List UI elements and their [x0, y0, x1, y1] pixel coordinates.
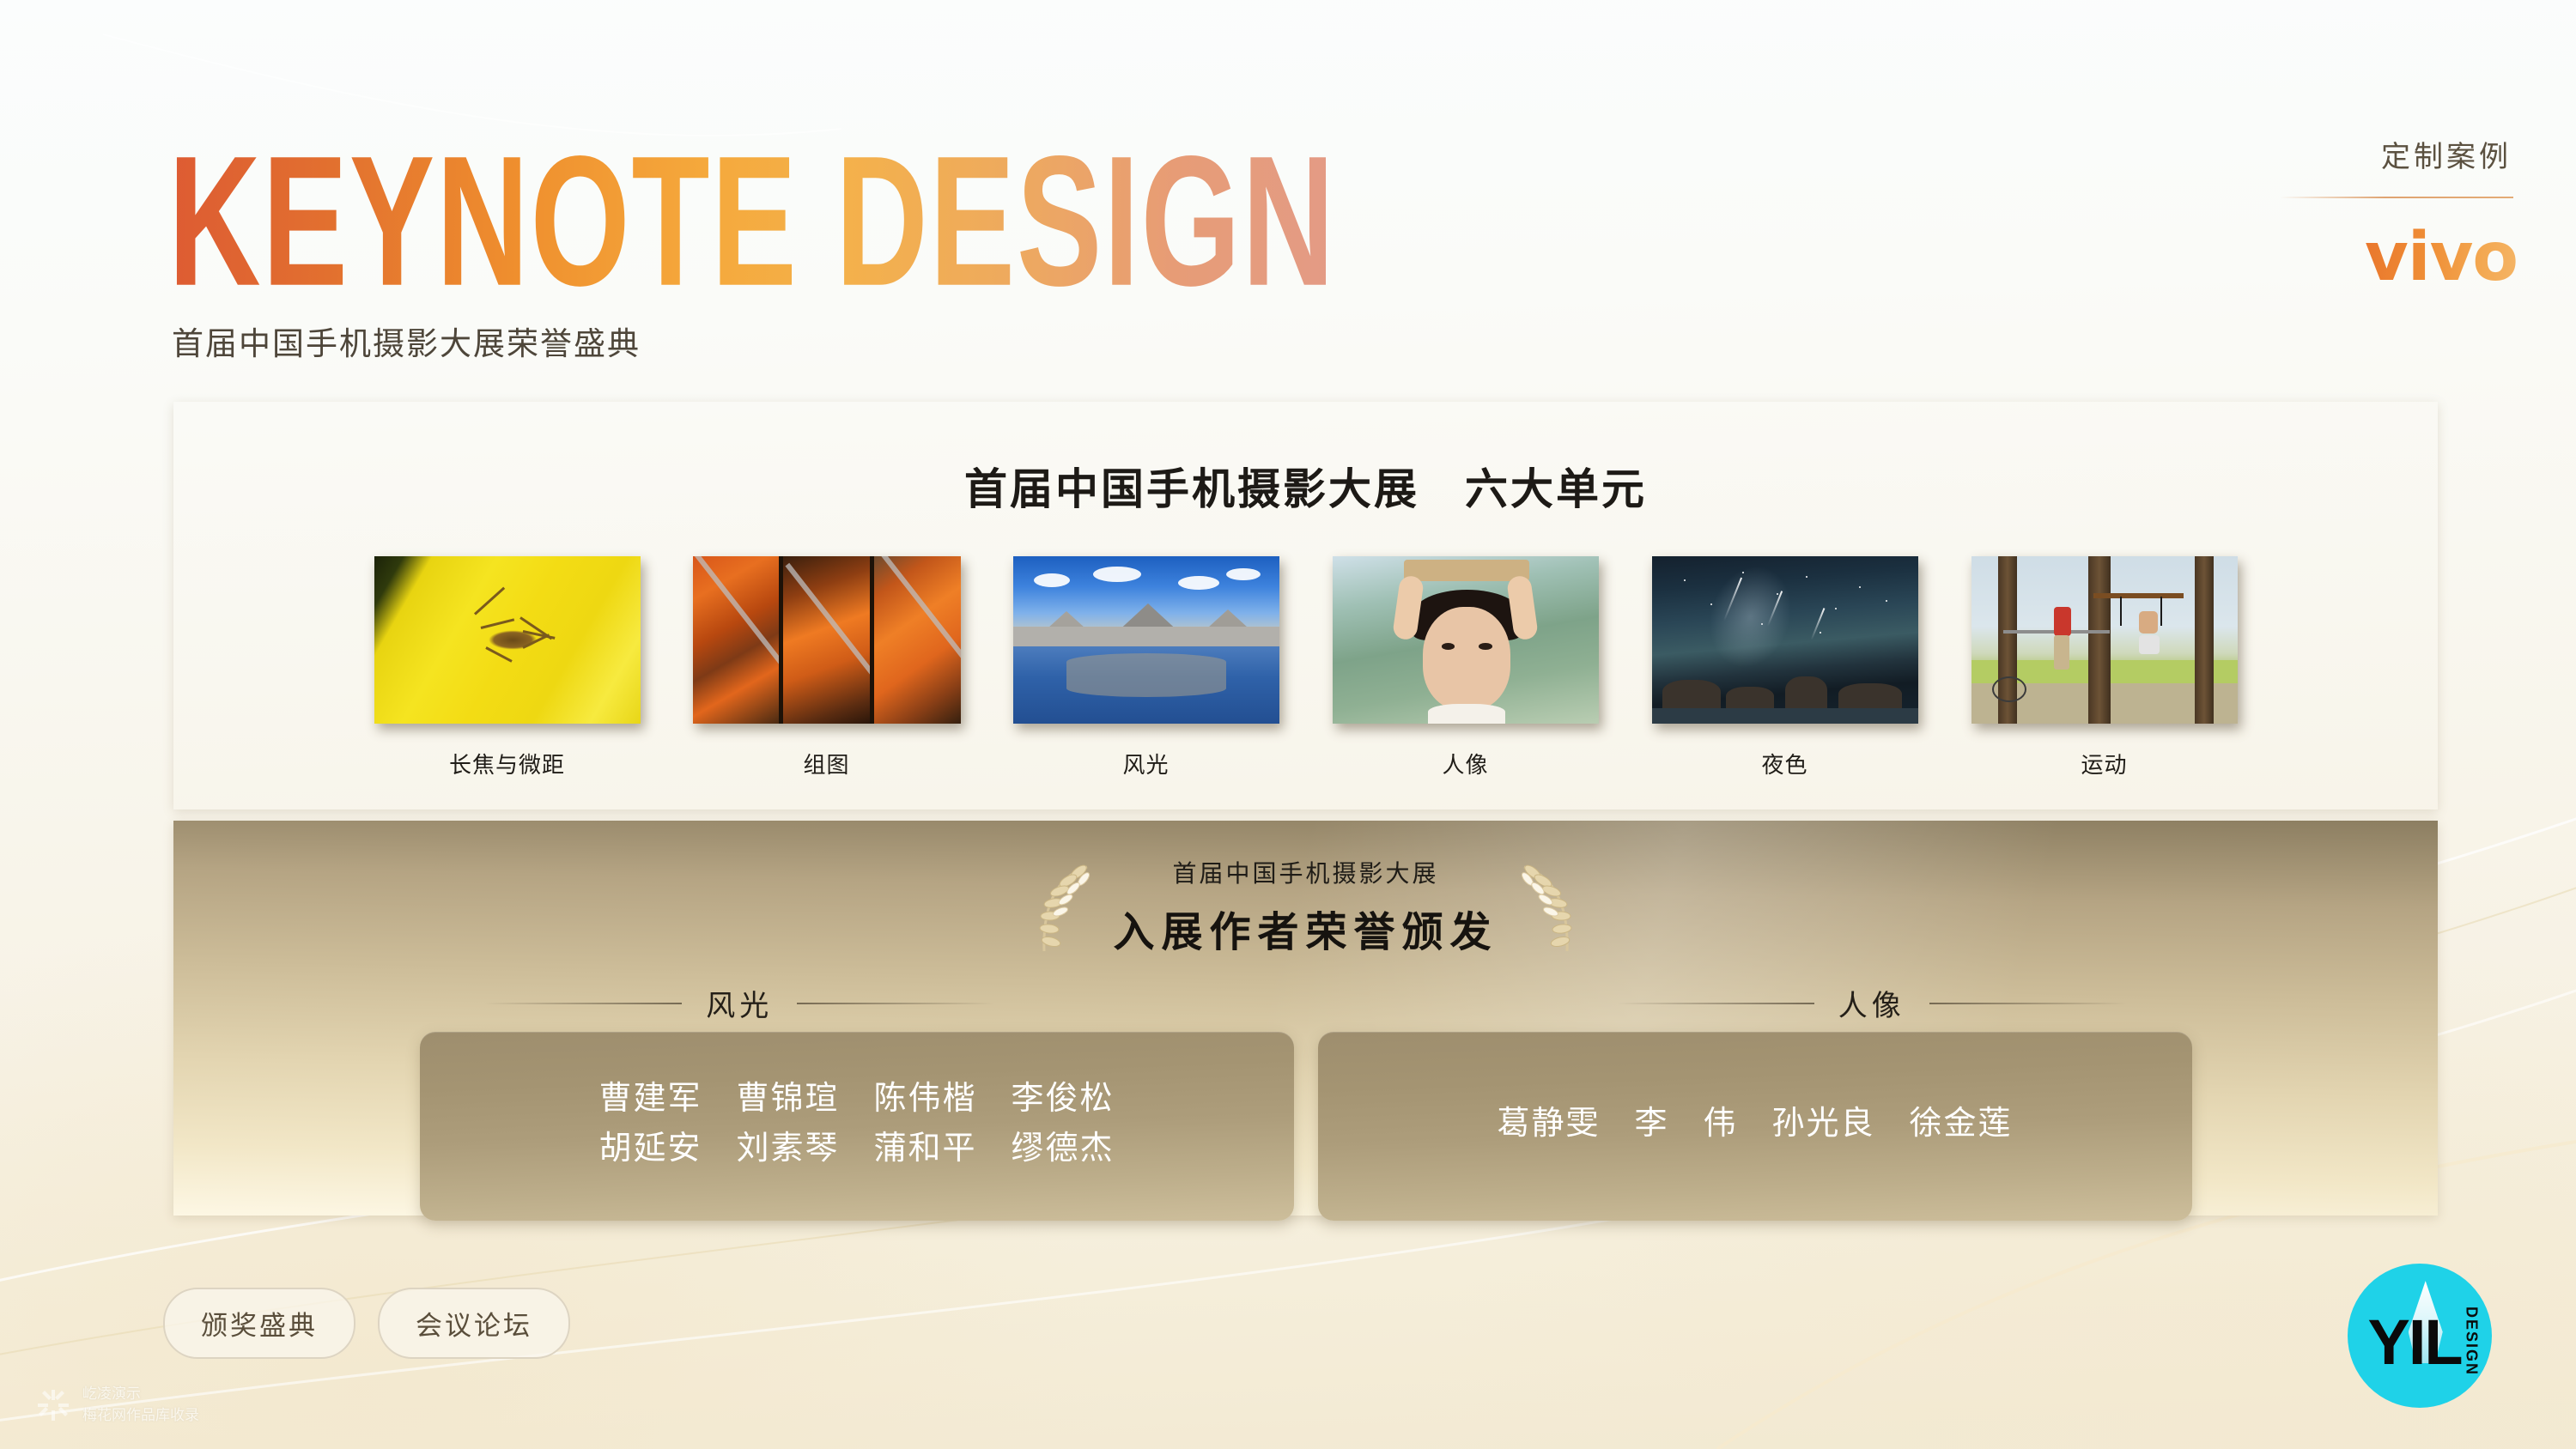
girl-with-basket-portrait-photo[interactable]	[1333, 556, 1599, 724]
category-heading-row: 风光 人像	[173, 982, 2438, 1024]
category-rule-right	[797, 1003, 994, 1004]
units-panel-title: 首届中国手机摄影大展 六大单元	[173, 455, 2438, 517]
winner-card-landscape[interactable]: 曹建军 曹锦瑄 陈伟楷 李俊松 胡延安 刘素琴 蒲和平 缪德杰	[420, 1032, 1294, 1221]
unit-item-landscape[interactable]: 风光	[987, 556, 1306, 779]
units-panel: 首届中国手机摄影大展 六大单元 长焦与微距	[173, 402, 2438, 809]
snowflake-icon	[36, 1388, 70, 1422]
units-thumbnail-row: 长焦与微距 组图	[173, 556, 2438, 779]
case-label: 定制案例	[2381, 133, 2512, 175]
yil-design-logo[interactable]: YIL DESIGN	[2348, 1264, 2492, 1408]
category-heading-landscape: 风光	[173, 982, 1306, 1024]
honor-heading-block: 首届中国手机摄影大展 入展作者荣誉颁发	[173, 855, 2438, 958]
header-divider	[2280, 197, 2513, 198]
brand-logo-vivo: vivo	[2365, 219, 2518, 296]
category-rule-right	[1929, 1003, 2127, 1004]
conference-forum-button[interactable]: 会议论坛	[378, 1288, 570, 1359]
category-name: 风光	[706, 982, 773, 1024]
unit-label: 夜色	[1761, 748, 1807, 779]
laurel-wreath-left-icon	[1034, 862, 1099, 956]
winner-card-portrait[interactable]: 葛静雯 李 伟 孙光良 徐金莲	[1318, 1032, 2192, 1221]
category-rule-left	[1617, 1003, 1814, 1004]
unit-item-portrait[interactable]: 人像	[1306, 556, 1625, 779]
unit-item-sport[interactable]: 运动	[1945, 556, 2264, 779]
category-heading-portrait: 人像	[1306, 982, 2439, 1024]
night-sky-meteor-rocks-photo[interactable]	[1652, 556, 1918, 724]
page-header: KEYNOTE DESIGN 首届中国手机摄影大展荣誉盛典 定制案例 vivo	[0, 0, 2576, 395]
unit-label: 长焦与微距	[449, 748, 565, 779]
winner-name-line: 曹建军 曹锦瑄 陈伟楷 李俊松	[598, 1075, 1114, 1125]
yil-logo-sub: DESIGN	[2463, 1307, 2481, 1376]
laurel-wreath-right-icon	[1512, 862, 1577, 956]
honor-panel: 首届中国手机摄影大展 入展作者荣誉颁发 风光 人像 曹建军 曹锦瑄 陈伟楷 李俊…	[173, 821, 2438, 1216]
watermark-text: 屹凌演示 梅花网作品库收录	[82, 1384, 199, 1426]
slide-root: KEYNOTE DESIGN 首届中国手机摄影大展荣誉盛典 定制案例 vivo …	[0, 0, 2576, 1449]
watermark: 屹凌演示 梅花网作品库收录	[36, 1384, 199, 1426]
orange-umbrella-triptych-photo[interactable]	[693, 556, 961, 724]
yil-logo-mark: YIL	[2368, 1306, 2462, 1379]
honor-eyebrow: 首届中国手机摄影大展	[173, 855, 2438, 889]
watermark-line-1: 屹凌演示	[82, 1384, 199, 1405]
unit-item-macro[interactable]: 长焦与微距	[348, 556, 667, 779]
unit-item-series[interactable]: 组图	[667, 556, 987, 779]
page-title: KEYNOTE DESIGN	[168, 129, 1336, 314]
unit-label: 组图	[803, 748, 849, 779]
unit-label: 风光	[1122, 748, 1169, 779]
macro-flower-spider-photo[interactable]	[374, 556, 641, 724]
footer-button-group: 颁奖盛典 会议论坛	[163, 1288, 570, 1359]
winner-name-line: 葛静雯 李 伟 孙光良 徐金莲	[1497, 1100, 2012, 1149]
winner-name-line: 胡延安 刘素琴 蒲和平 缪德杰	[598, 1125, 1114, 1174]
unit-label: 人像	[1442, 748, 1488, 779]
mountain-lake-reflection-photo[interactable]	[1013, 556, 1279, 724]
outdoor-gym-trees-photo[interactable]	[1971, 556, 2238, 724]
unit-item-night[interactable]: 夜色	[1625, 556, 1945, 779]
category-rule-left	[484, 1003, 682, 1004]
honor-title: 入展作者荣誉颁发	[173, 898, 2438, 958]
page-subtitle: 首届中国手机摄影大展荣誉盛典	[172, 318, 641, 364]
watermark-line-2: 梅花网作品库收录	[82, 1405, 199, 1427]
award-ceremony-button[interactable]: 颁奖盛典	[163, 1288, 355, 1359]
category-name: 人像	[1838, 982, 1905, 1024]
winner-cards-row: 曹建军 曹锦瑄 陈伟楷 李俊松 胡延安 刘素琴 蒲和平 缪德杰 葛静雯 李 伟 …	[173, 1032, 2438, 1221]
unit-label: 运动	[2081, 748, 2127, 779]
